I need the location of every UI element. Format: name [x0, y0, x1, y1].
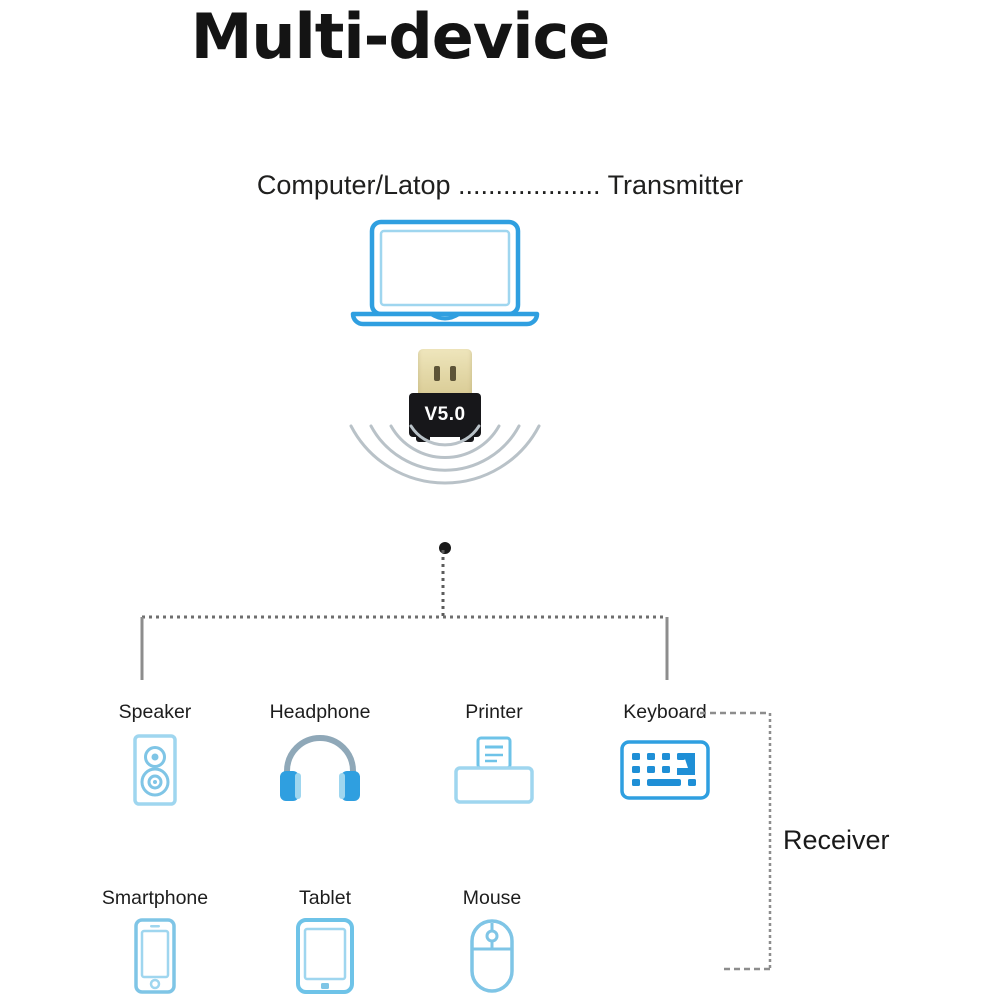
device-headphone[interactable]: Headphone	[245, 700, 395, 808]
dongle-pin-left	[434, 366, 440, 381]
receiver-label: Receiver	[783, 823, 890, 857]
speaker-icon	[80, 732, 230, 808]
receiver-bracket	[700, 705, 790, 980]
device-label-smartphone: Smartphone	[80, 886, 230, 910]
mouse-icon	[417, 918, 567, 994]
device-label-speaker: Speaker	[80, 700, 230, 724]
device-label-headphone: Headphone	[245, 700, 395, 724]
device-label-mouse: Mouse	[417, 886, 567, 910]
page-title: Multi-device	[0, 2, 800, 72]
dongle-version-label: V5.0	[424, 404, 465, 426]
transmitter-caption: Computer/Latop ................... Trans…	[0, 168, 1000, 202]
headphone-icon	[245, 732, 395, 808]
device-smartphone[interactable]: Smartphone	[80, 886, 230, 994]
laptop-icon	[345, 218, 545, 328]
device-tablet[interactable]: Tablet	[250, 886, 400, 994]
printer-icon	[419, 732, 569, 808]
signal-waves-icon	[325, 424, 565, 554]
device-mouse[interactable]: Mouse	[417, 886, 567, 994]
dongle-pin-right	[450, 366, 456, 381]
connector-tree	[95, 540, 755, 690]
device-label-printer: Printer	[419, 700, 569, 724]
device-speaker[interactable]: Speaker	[80, 700, 230, 808]
device-label-tablet: Tablet	[250, 886, 400, 910]
dongle-connector-icon	[418, 349, 472, 399]
smartphone-icon	[80, 918, 230, 994]
device-printer[interactable]: Printer	[419, 700, 569, 808]
tablet-icon	[250, 918, 400, 994]
